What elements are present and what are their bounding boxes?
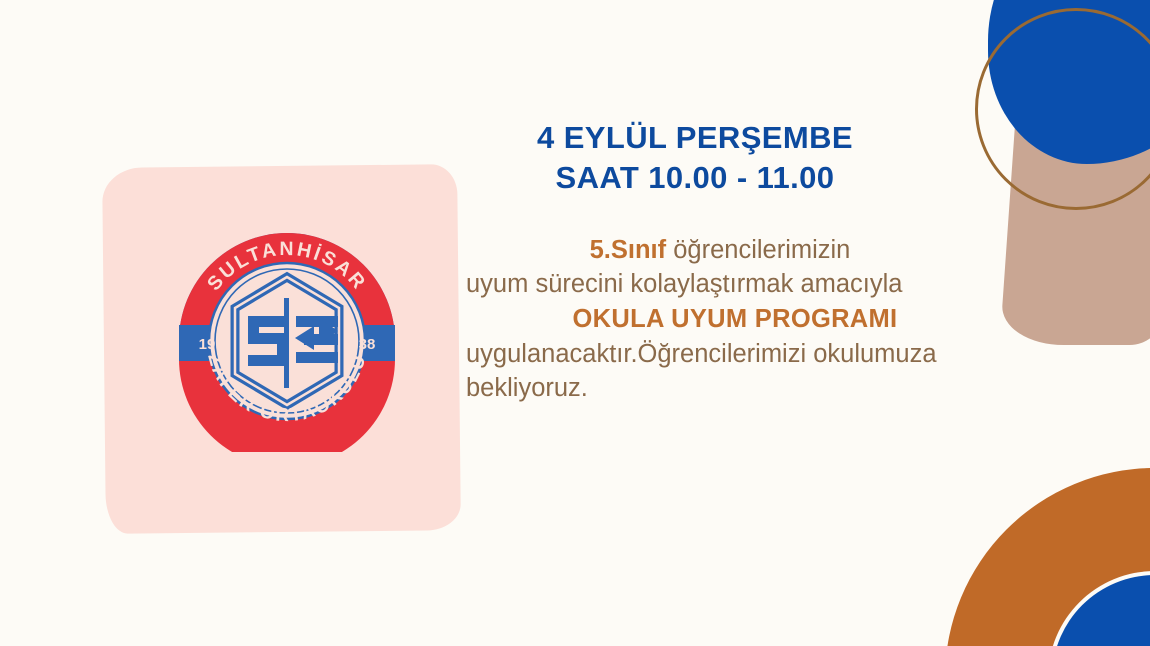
logo-year-left: 19 (199, 336, 216, 353)
body-line-1: 5.Sınıf öğrencilerimizin (460, 233, 1108, 268)
grade-accent: 5.Sınıf (590, 236, 667, 264)
body-line-3: OKULA UYUM PROGRAMI (460, 302, 1108, 337)
logo-year-right: 38 (359, 336, 376, 353)
body-line-4: uygulanacaktır.Öğrencilerimizi okulumuza (460, 337, 1108, 372)
poster-canvas: SULTANHİSAR ZAFER ORTAOKULU 19 38 4 EYLÜ… (0, 0, 1150, 646)
announcement-body: 5.Sınıf öğrencilerimizin uyum sürecini k… (460, 233, 1108, 406)
body-line-1-rest: öğrencilerimizin (666, 236, 850, 264)
announcement-heading: 4 EYLÜL PERŞEMBE SAAT 10.00 - 11.00 (460, 118, 930, 199)
orange-arc-hole (1048, 571, 1150, 646)
heading-line-1: 4 EYLÜL PERŞEMBE (537, 120, 853, 155)
announcement-text-block: 4 EYLÜL PERŞEMBE SAAT 10.00 - 11.00 5.Sı… (460, 118, 1120, 406)
body-line-2: uyum sürecini kolaylaştırmak amacıyla (460, 267, 1108, 302)
body-line-5: bekliyoruz. (460, 371, 1108, 406)
program-title: OKULA UYUM PROGRAMI (573, 305, 898, 333)
blue-quarter-circle (1052, 575, 1150, 646)
heading-line-2: SAAT 10.00 - 11.00 (460, 158, 930, 198)
school-logo: SULTANHİSAR ZAFER ORTAOKULU 19 38 (176, 230, 398, 452)
orange-arc-shape (945, 468, 1150, 646)
